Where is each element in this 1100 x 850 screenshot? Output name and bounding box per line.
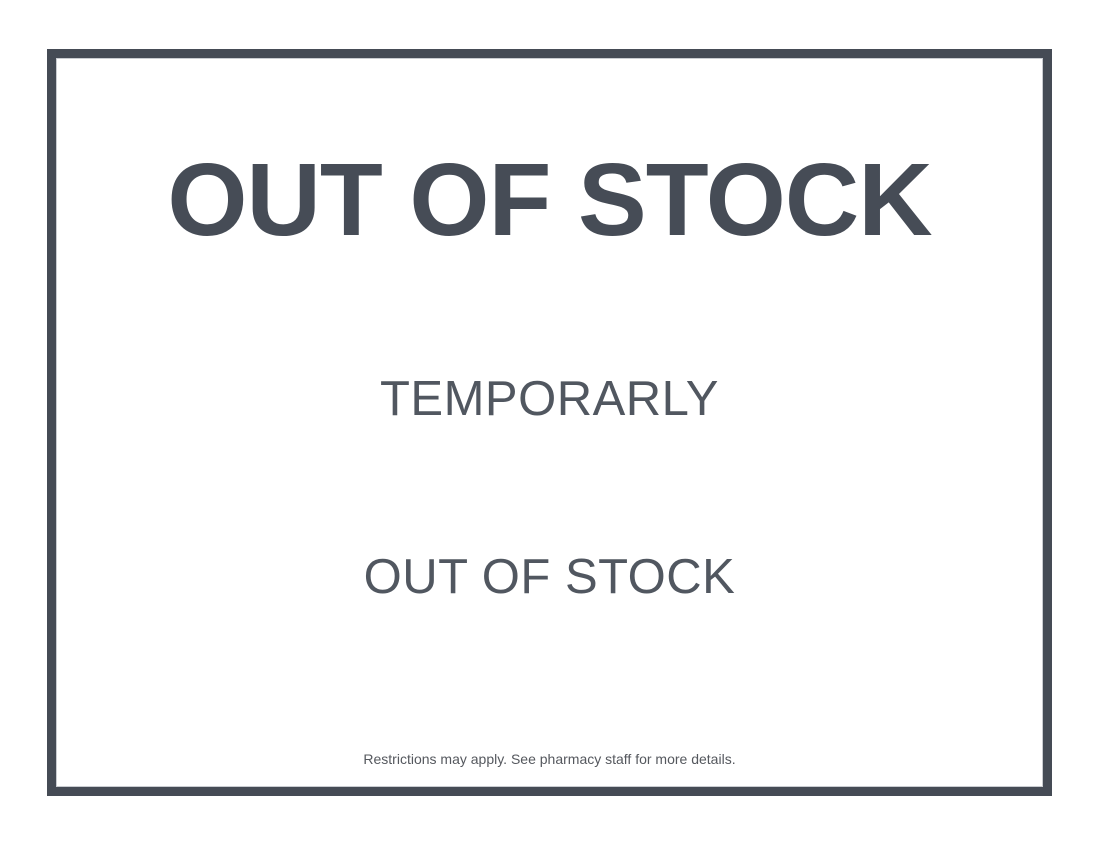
sign-inner-hairline-frame: OUT OF STOCK TEMPORARLY OUT OF STOCK Res… xyxy=(56,58,1043,787)
disclaimer-text: Restrictions may apply. See pharmacy sta… xyxy=(57,751,1042,768)
page-title: OUT OF STOCK xyxy=(57,145,1042,254)
sign-page: OUT OF STOCK TEMPORARLY OUT OF STOCK Res… xyxy=(0,0,1100,850)
status-subtitle-out-of-stock: OUT OF STOCK xyxy=(57,551,1042,605)
sign-content: OUT OF STOCK TEMPORARLY OUT OF STOCK Res… xyxy=(57,59,1042,786)
status-subtitle-temporarily: TEMPORARLY xyxy=(57,373,1042,427)
sign-border-frame: OUT OF STOCK TEMPORARLY OUT OF STOCK Res… xyxy=(47,49,1052,796)
